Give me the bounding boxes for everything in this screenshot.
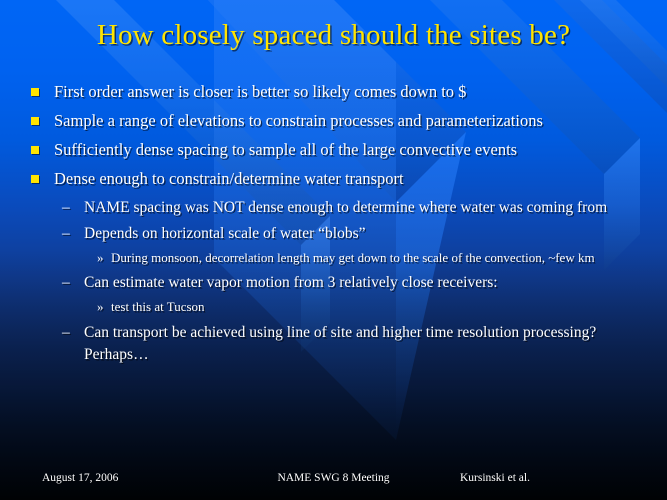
bullet-text: Depends on horizontal scale of water “bl… (84, 223, 627, 245)
bullet-text: Sufficiently dense spacing to sample all… (54, 138, 643, 163)
slide-body-content: First order answer is closer is better s… (0, 80, 667, 369)
bullet-level2: – NAME spacing was NOT dense enough to d… (0, 197, 667, 219)
bullet-level3: » During monsoon, decorrelation length m… (0, 249, 667, 268)
dash-bullet-icon: – (62, 272, 70, 294)
guillemet-bullet-icon: » (97, 298, 104, 317)
bullet-text: Can estimate water vapor motion from 3 r… (84, 272, 627, 294)
bullet-level2: – Can estimate water vapor motion from 3… (0, 272, 667, 294)
footer-authors: Kursinski et al. (460, 468, 667, 488)
dash-bullet-icon: – (62, 322, 70, 344)
guillemet-bullet-icon: » (97, 249, 104, 268)
slide-title: How closely spaced should the sites be? (0, 18, 667, 52)
square-bullet-icon (31, 88, 39, 96)
bullet-text: During monsoon, decorrelation length may… (111, 249, 597, 268)
bullet-text: First order answer is closer is better s… (54, 80, 643, 105)
bullet-text: Sample a range of elevations to constrai… (54, 109, 643, 134)
bullet-level1: Dense enough to constrain/determine wate… (0, 167, 667, 192)
bullet-level1: Sufficiently dense spacing to sample all… (0, 138, 667, 163)
bullet-level1: Sample a range of elevations to constrai… (0, 109, 667, 134)
square-bullet-icon (31, 175, 39, 183)
slide-footer: August 17, 2006 NAME SWG 8 Meeting Kursi… (0, 468, 667, 488)
bullet-level3: » test this at Tucson (0, 298, 667, 317)
bullet-level2: – Depends on horizontal scale of water “… (0, 223, 667, 245)
dash-bullet-icon: – (62, 197, 70, 219)
bullet-text: Dense enough to constrain/determine wate… (54, 167, 643, 192)
square-bullet-icon (31, 117, 39, 125)
square-bullet-icon (31, 146, 39, 154)
bullet-text: Can transport be achieved using line of … (84, 322, 627, 366)
bullet-text: test this at Tucson (111, 298, 597, 317)
bullet-level1: First order answer is closer is better s… (0, 80, 667, 105)
dash-bullet-icon: – (62, 223, 70, 245)
bullet-level2: – Can transport be achieved using line o… (0, 322, 667, 366)
presentation-slide: How closely spaced should the sites be? … (0, 0, 667, 500)
bullet-text: NAME spacing was NOT dense enough to det… (84, 197, 627, 219)
